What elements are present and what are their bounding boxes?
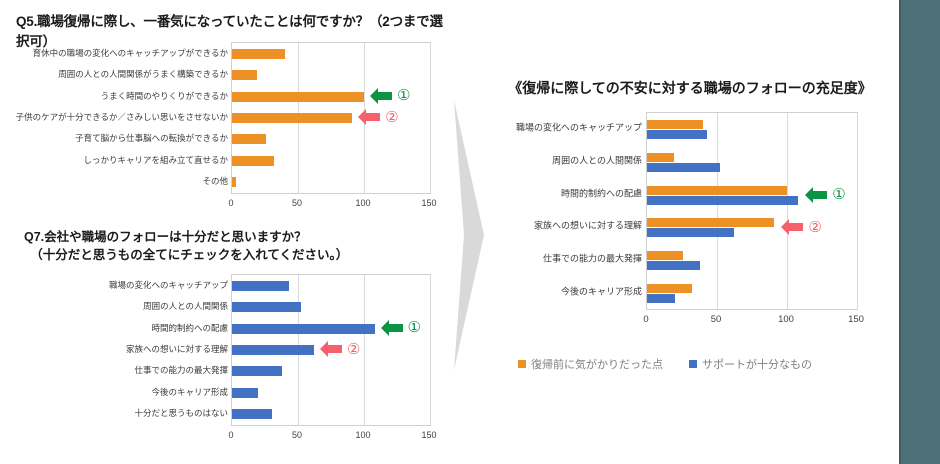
- x-tick-label: 0: [228, 198, 233, 208]
- x-tick-label: 0: [228, 430, 233, 440]
- chart-q5-x-axis: 050100150: [231, 198, 431, 212]
- chart-q5: Q5.職場復帰に際し、一番気になっていたことは何ですか？（2つまで選択可） 育休…: [16, 10, 446, 215]
- annotation-arrow-second: ②: [320, 341, 360, 357]
- gridline: [430, 43, 431, 193]
- category-label: 育休中の職場の変化へのキャッチアップができるか: [33, 48, 228, 57]
- bar: [232, 324, 375, 334]
- category-label: 家族への想いに対する理解: [534, 222, 642, 231]
- chart-q5-plot-area: ①②: [231, 42, 431, 194]
- bar: [232, 177, 236, 187]
- bar: [232, 92, 364, 102]
- category-label: 周囲の人との人間関係: [552, 157, 642, 166]
- gridline: [717, 113, 718, 309]
- category-label: 今後のキャリア形成: [151, 388, 228, 397]
- x-tick-label: 150: [421, 198, 436, 208]
- chart-q7: Q7.会社や職場のフォローは十分だと思いますか？ （十分だと思うもの全てにチェッ…: [16, 228, 446, 458]
- annotation-arrow-first: ①: [381, 320, 421, 336]
- legend-label: サポートが十分なもの: [702, 356, 812, 372]
- chart-combined-plot-wrap: 職場の変化へのキャッチアップ周囲の人との人間関係時間的制約への配慮家族への想いに…: [490, 112, 900, 342]
- bar: [647, 153, 674, 162]
- red-left-arrow-icon: [781, 219, 803, 235]
- bar: [232, 156, 274, 166]
- bar: [647, 294, 675, 303]
- x-tick-label: 0: [643, 314, 648, 325]
- chart-q7-category-labels: 職場の変化へのキャッチアップ周囲の人との人間関係時間的制約への配慮家族への想いに…: [16, 274, 228, 426]
- chart-combined-legend: 復帰前に気がかりだった点サポートが十分なもの: [518, 356, 812, 372]
- category-label: しっかりキャリアを組み立て直せるか: [83, 156, 228, 165]
- bar: [647, 120, 703, 129]
- bar: [647, 218, 774, 227]
- red-left-arrow-icon: [320, 341, 342, 357]
- annotation-number: ②: [385, 110, 398, 125]
- bar: [232, 113, 352, 123]
- bar: [232, 366, 282, 376]
- chart-q5-plot-wrap: 育休中の職場の変化へのキャッチアップができるか周囲の人との人間関係がうまく構築で…: [16, 42, 446, 212]
- bar: [232, 49, 285, 59]
- bar: [232, 281, 289, 291]
- category-label: その他: [202, 177, 228, 186]
- x-tick-label: 150: [421, 430, 436, 440]
- bar: [647, 228, 734, 237]
- chart-combined-category-labels: 職場の変化へのキャッチアップ周囲の人との人間関係時間的制約への配慮家族への想いに…: [490, 112, 642, 310]
- bar: [232, 388, 258, 398]
- category-label: 周囲の人との人間関係がうまく構築できるか: [58, 70, 228, 79]
- chart-q7-title: Q7.会社や職場のフォローは十分だと思いますか？ （十分だと思うもの全てにチェッ…: [24, 228, 348, 264]
- x-tick-label: 100: [355, 198, 370, 208]
- x-tick-label: 50: [711, 314, 722, 325]
- category-label: 時間的制約への配慮: [151, 323, 228, 332]
- legend-label: 復帰前に気がかりだった点: [531, 356, 663, 372]
- gridline: [787, 113, 788, 309]
- category-label: 子供のケアが十分できるか／さみしい思いをさせないか: [16, 113, 228, 122]
- category-label: 今後のキャリア形成: [561, 287, 642, 296]
- chart-combined-plot-area: ①②: [646, 112, 858, 310]
- legend-swatch-icon: [689, 360, 697, 368]
- annotation-number: ①: [408, 320, 421, 335]
- annotation-arrow-second: ②: [358, 109, 398, 125]
- bar: [647, 261, 700, 270]
- category-label: 十分だと思うものはない: [134, 409, 228, 418]
- category-label: うまく時間のやりくりができるか: [101, 91, 228, 100]
- category-label: 職場の変化へのキャッチアップ: [516, 124, 642, 133]
- x-tick-label: 50: [292, 198, 302, 208]
- bar: [232, 409, 272, 419]
- x-tick-label: 100: [355, 430, 370, 440]
- annotation-arrow-first: ①: [370, 88, 410, 104]
- right-decorative-band: [901, 0, 940, 464]
- chart-q5-category-labels: 育休中の職場の変化へのキャッチアップができるか周囲の人との人間関係がうまく構築で…: [16, 42, 228, 194]
- bar: [232, 302, 301, 312]
- chart-q7-plot-wrap: 職場の変化へのキャッチアップ周囲の人との人間関係時間的制約への配慮家族への想いに…: [16, 274, 446, 454]
- x-tick-label: 150: [848, 314, 864, 325]
- bar: [647, 163, 720, 172]
- annotation-number: ②: [808, 220, 821, 235]
- gridline: [364, 275, 365, 425]
- flow-arrow-icon: [450, 95, 490, 375]
- bar: [232, 70, 257, 80]
- bar: [647, 251, 683, 260]
- gridline: [430, 275, 431, 425]
- category-label: 仕事での能力の最大発揮: [134, 366, 228, 375]
- category-label: 職場の変化へのキャッチアップ: [109, 280, 228, 289]
- category-label: 周囲の人との人間関係: [143, 302, 228, 311]
- category-label: 家族への想いに対する理解: [126, 345, 228, 354]
- annotation-number: ②: [347, 342, 360, 357]
- annotation-arrow-first: ①: [805, 187, 845, 203]
- gridline: [857, 113, 858, 309]
- bar: [647, 284, 692, 293]
- chart-q7-plot-area: ①②: [231, 274, 431, 426]
- bar: [232, 134, 266, 144]
- chart-combined: 《復帰に際しての不安に対する職場のフォローの充足度》 職場の変化へのキャッチアッ…: [490, 78, 900, 378]
- legend-item[interactable]: サポートが十分なもの: [689, 356, 812, 372]
- legend-item[interactable]: 復帰前に気がかりだった点: [518, 356, 663, 372]
- chart-combined-x-axis: 050100150: [646, 314, 858, 328]
- red-left-arrow-icon: [358, 109, 380, 125]
- bar: [647, 196, 798, 205]
- category-label: 時間的制約への配慮: [561, 189, 642, 198]
- slide-canvas: Q5.職場復帰に際し、一番気になっていたことは何ですか？（2つまで選択可） 育休…: [0, 0, 940, 464]
- annotation-arrow-second: ②: [781, 219, 821, 235]
- chart-q7-x-axis: 050100150: [231, 430, 431, 444]
- annotation-number: ①: [397, 88, 410, 103]
- green-left-arrow-icon: [381, 320, 403, 336]
- legend-swatch-icon: [518, 360, 526, 368]
- bar: [232, 345, 314, 355]
- annotation-number: ①: [832, 187, 845, 202]
- green-left-arrow-icon: [805, 187, 827, 203]
- category-label: 仕事での能力の最大発揮: [543, 255, 642, 264]
- category-label: 子育て脳から仕事脳への転換ができるか: [75, 134, 228, 143]
- green-left-arrow-icon: [370, 88, 392, 104]
- chart-combined-title: 《復帰に際しての不安に対する職場のフォローの充足度》: [490, 78, 890, 98]
- x-tick-label: 100: [778, 314, 794, 325]
- bar: [647, 186, 787, 195]
- x-tick-label: 50: [292, 430, 302, 440]
- bar: [647, 130, 707, 139]
